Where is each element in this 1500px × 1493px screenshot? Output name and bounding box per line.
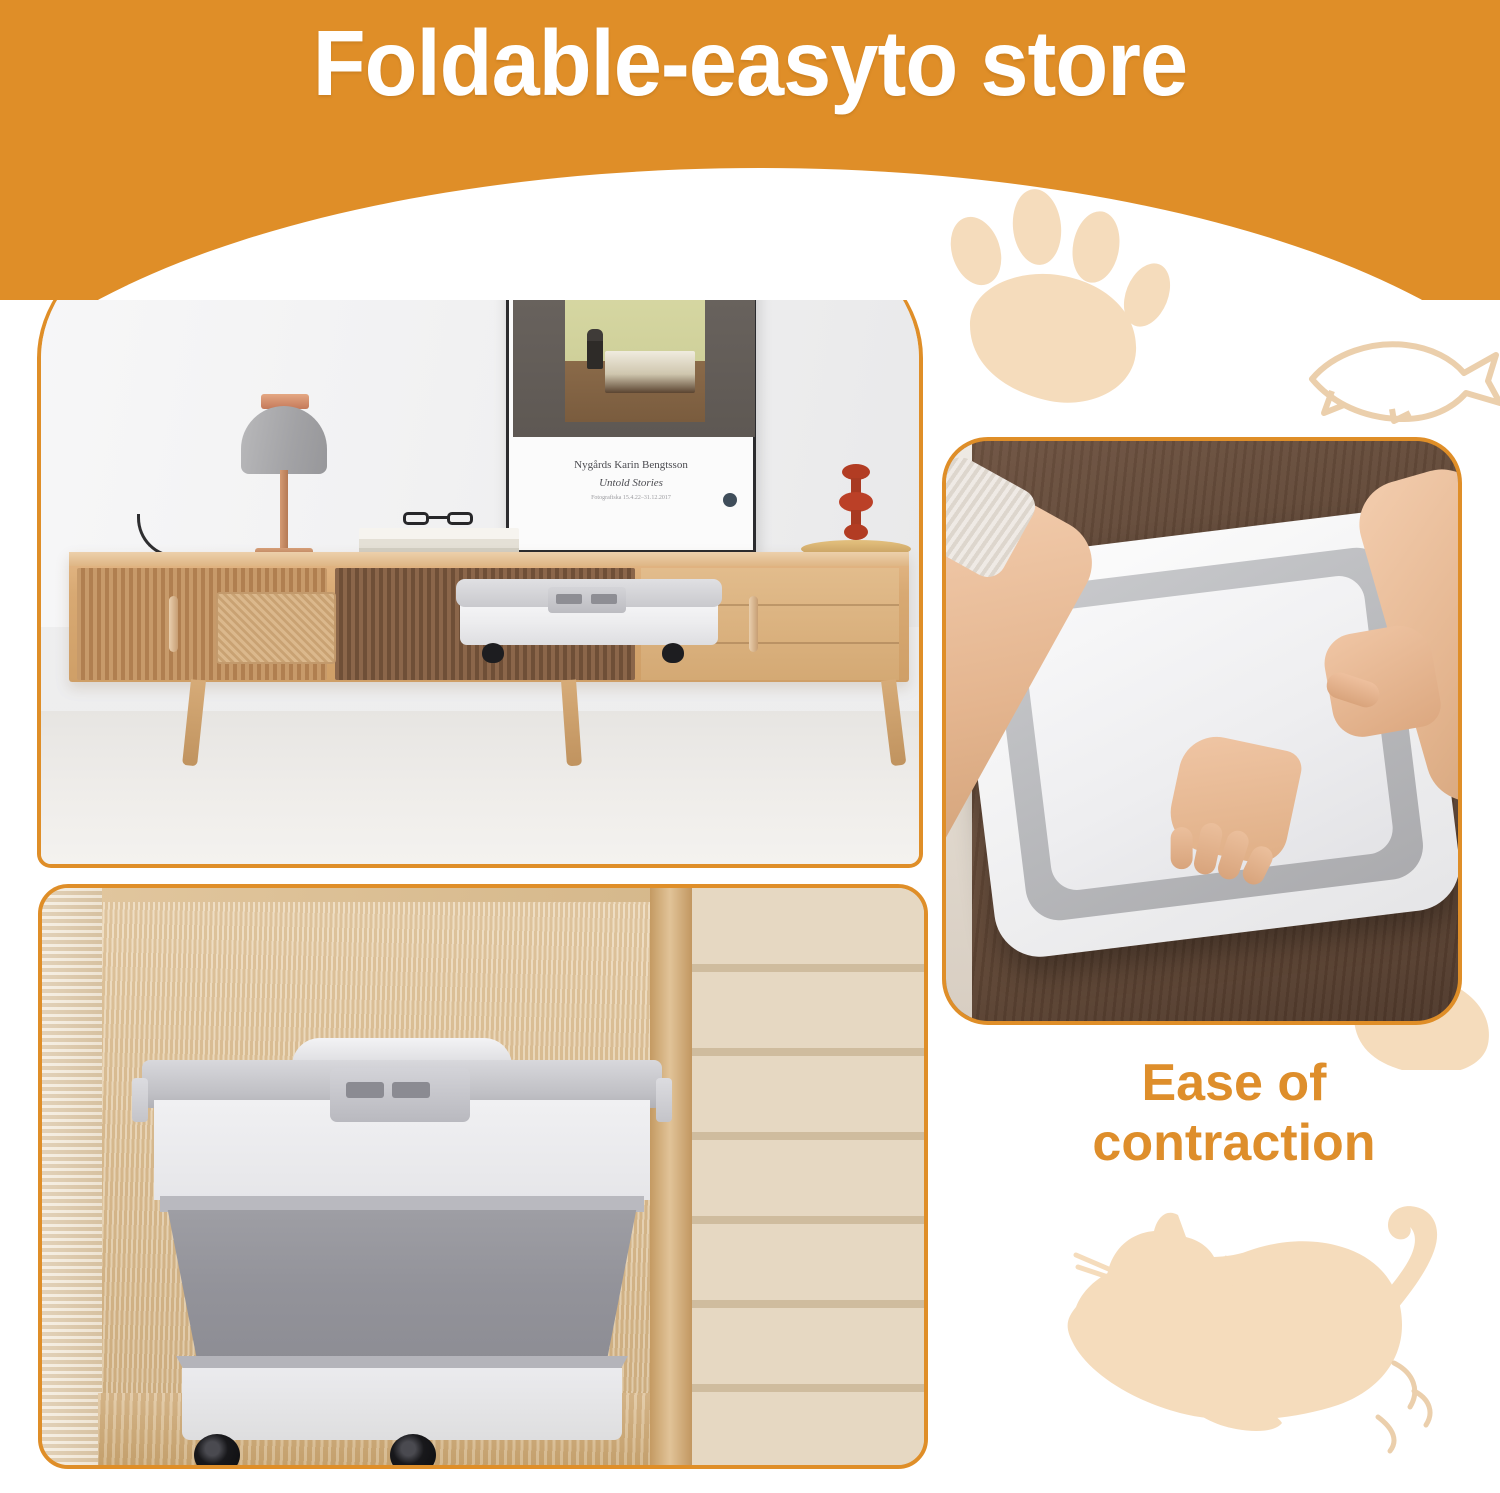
motion-swoosh-icon [1378,1363,1430,1451]
page-title: Foldable-easyto store [53,17,1448,110]
cabinet-left-post [42,888,102,1465]
lamp-stem [280,470,288,556]
box-caster-wheel [194,1434,240,1469]
glasses-right-lens [447,512,473,525]
cabinet-right-shelves [692,888,924,1465]
room-floor [41,711,919,864]
panel-hands-pressing-tray [942,437,1462,1025]
poster-artist: Nygårds Karin Bengtsson [509,459,753,471]
box-side-tab [132,1078,148,1122]
paw-and-fish-decoration [940,165,1500,465]
caption-line-1: Ease of [980,1053,1488,1113]
caption-line-2: contraction [980,1113,1488,1173]
red-candle-holder [839,464,873,544]
box-fold-band-top [160,1196,644,1212]
panel-box-in-cabinet [38,884,928,1469]
expanded-storage-box [132,1050,672,1450]
sideboard-handle-left [169,596,178,652]
collapsed-box-latch [548,587,626,613]
poster-logo-icon [723,493,737,507]
cat-silhouette-icon [1068,1206,1437,1431]
glasses-left-lens [403,512,429,525]
paw-print-icon [942,187,1178,403]
poster-bed [605,351,695,393]
box-collapsible-pleat [158,1210,646,1360]
fish-outline-icon [1312,344,1500,421]
cat-decoration [990,1185,1500,1485]
collapsed-storage-box [456,573,722,661]
woven-basket [216,592,336,664]
box-side-tab [656,1078,672,1122]
decoration-zone-top-right [940,165,1500,465]
box-caster-wheel [390,1434,436,1469]
product-banner: Foldable-easyto store [0,0,1500,1493]
poster-subtitle: Fotografiska 15.4.22–31.12.2017 [509,495,753,501]
poster-title: Untold Stories [509,477,753,489]
caption-ease-of-contraction: Ease of contraction [980,1053,1488,1174]
box-latch-handle [330,1068,470,1122]
collapsed-box-wheel [662,643,684,663]
eyeglasses [403,510,477,528]
poster-figure [587,329,603,369]
sideboard-handle-right [749,596,758,652]
collapsed-box-wheel [482,643,504,663]
box-lower-base [182,1368,622,1440]
sideboard-top-surface [69,552,909,566]
glasses-bridge [429,516,449,519]
